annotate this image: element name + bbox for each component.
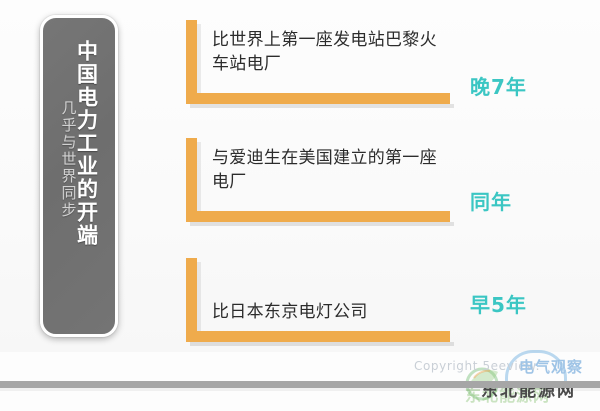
- bracket-vertical-icon: [186, 138, 197, 214]
- bracket-horizontal-icon: [186, 211, 450, 222]
- fact-tag-3: 早5年: [470, 289, 527, 318]
- fact-text-2: 与爱迪生在美国建立的第一座电厂: [212, 146, 452, 194]
- subtitle-vertical: 几乎与世界同步: [61, 100, 76, 219]
- fact-text-3: 比日本东京电灯公司: [212, 300, 452, 324]
- fact-row-3: 比日本东京电灯公司: [186, 258, 456, 354]
- bracket-vertical-icon: [186, 258, 197, 334]
- vertical-title-panel: 中国电力工业的开端 几乎与世界同步: [40, 15, 118, 337]
- fact-text-1: 比世界上第一座发电站巴黎火车站电厂: [212, 28, 452, 76]
- bracket-vertical-icon: [186, 20, 197, 96]
- vertical-title-inner: 中国电力工业的开端 几乎与世界同步: [43, 18, 115, 334]
- bracket-horizontal-icon: [186, 331, 450, 342]
- fact-row-2: 与爱迪生在美国建立的第一座电厂: [186, 138, 456, 234]
- bracket-horizontal-icon: [186, 93, 450, 104]
- infographic-canvas: 中国电力工业的开端 几乎与世界同步 比世界上第一座发电站巴黎火车站电厂 晚7年 …: [0, 0, 600, 411]
- bottom-divider-shadow: [0, 388, 600, 391]
- fact-tag-2: 同年: [470, 186, 512, 215]
- bottom-divider: [0, 381, 600, 388]
- main-title-vertical: 中国电力工业的开端: [76, 40, 97, 247]
- fact-row-1: 比世界上第一座发电站巴黎火车站电厂: [186, 20, 456, 116]
- fact-tag-1: 晚7年: [470, 71, 527, 100]
